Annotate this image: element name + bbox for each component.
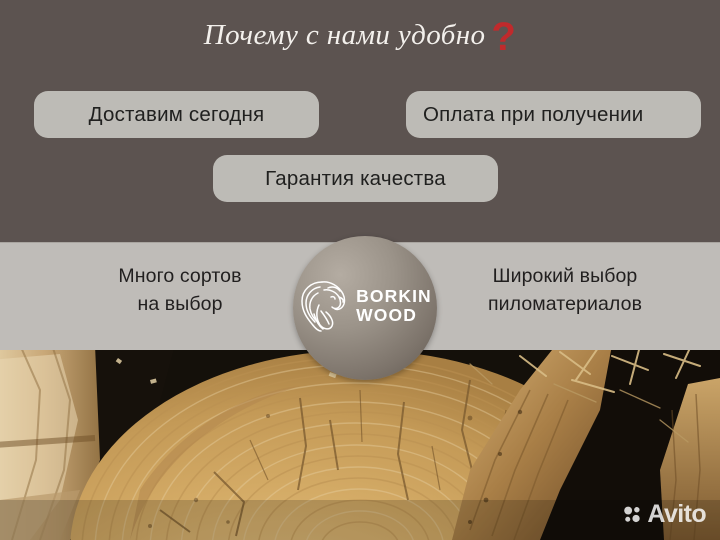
brand-name-line2: WOOD (356, 306, 432, 325)
page-title: Почему с нами удобно? (0, 19, 720, 52)
page-title-text: Почему с нами удобно (204, 19, 486, 51)
band-text-left-line1: Много сортов (60, 262, 300, 290)
brand-logo-badge[interactable]: BORKIN WOOD (293, 236, 437, 380)
feature-pill-delivery[interactable]: Доставим сегодня (34, 91, 319, 138)
band-text-right-line1: Широкий выбор (430, 262, 700, 290)
avito-dots-icon (623, 505, 642, 524)
avito-wordmark: Avito (647, 502, 706, 527)
feature-pill-payment[interactable]: Оплата при получении (406, 91, 701, 138)
feature-pill-payment-label: Оплата при получении (423, 103, 643, 127)
lion-head-icon (298, 278, 350, 334)
brand-logo-inner: BORKIN WOOD (298, 278, 432, 334)
band-text-left-line2: на выбор (60, 290, 300, 318)
band-text-left: Много сортов на выбор (60, 262, 300, 319)
feature-pill-delivery-label: Доставим сегодня (89, 103, 265, 127)
feature-pill-quality[interactable]: Гарантия качества (213, 155, 498, 202)
top-panel: Почему с нами удобно? Доставим сегодня О… (0, 0, 720, 242)
brand-name-line1: BORKIN (356, 287, 432, 306)
band-text-right: Широкий выбор пиломатериалов (430, 262, 700, 319)
avito-watermark: Avito (623, 502, 706, 527)
brand-logo-wordmark: BORKIN WOOD (356, 287, 432, 325)
question-mark-accent: ? (491, 15, 516, 59)
banner-canvas: Почему с нами удобно? Доставим сегодня О… (0, 0, 720, 540)
feature-pill-quality-label: Гарантия качества (265, 167, 446, 191)
band-text-right-line2: пиломатериалов (430, 290, 700, 318)
